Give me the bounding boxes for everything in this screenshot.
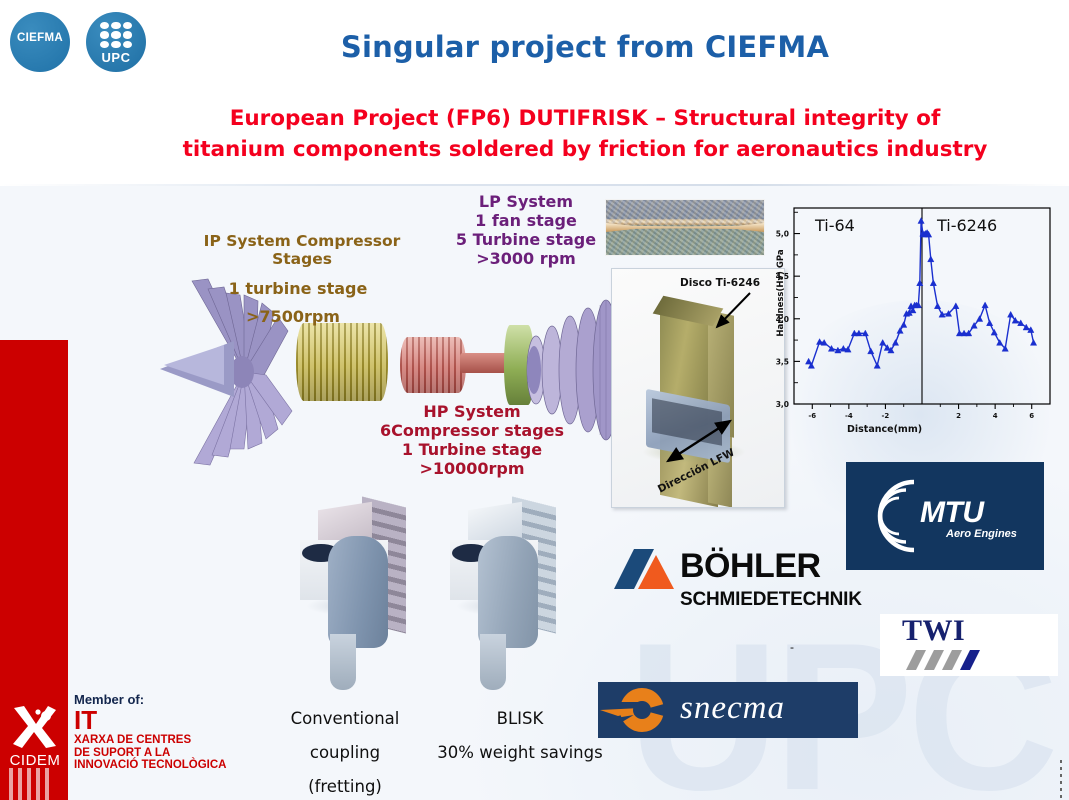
- catalonia-flag-icon: [4, 768, 50, 800]
- it-tagline: XARXA DE CENTRES DE SUPORT A LA INNOVACI…: [74, 734, 274, 773]
- subtitle-line-1: European Project (FP6) DUTIFRISK – Struc…: [140, 103, 1030, 134]
- engine-spinner-cone-inner: [164, 345, 224, 385]
- snecma-wordmark: snecma: [680, 690, 785, 727]
- lp-line-3: 5 Turbine stage: [452, 231, 600, 250]
- institution-logos: CIEFMA UPC: [4, 6, 184, 78]
- ip-turbine-stage-label: 1 turbine stage: [208, 280, 388, 299]
- chart-plot-area: 3,03,54,04,55,0-6-4-2246: [752, 196, 1064, 444]
- twi-dash-mark: -: [790, 640, 794, 654]
- blisk-caption: BLISK 30% weight savings: [420, 702, 620, 770]
- lp-line-2: 1 fan stage: [452, 212, 600, 231]
- disc-body: [478, 536, 538, 648]
- edge-dotted-marker: [1060, 760, 1062, 800]
- twi-bars-icon: [902, 648, 980, 672]
- disc-body: [328, 536, 388, 648]
- caption-line-2: 30% weight savings: [420, 736, 620, 770]
- bohler-wordmark: BÖHLER: [680, 547, 821, 586]
- upc-logo-label: UPC: [86, 50, 146, 65]
- ip-system-label: IP System Compressor Stages: [192, 232, 412, 269]
- chart-y-axis-label: Hardness(Hv) GPa: [776, 238, 786, 348]
- lp-line-4: >3000 rpm: [452, 250, 600, 269]
- hp-line-2: 6Compressor stages: [356, 422, 588, 441]
- hp-line-1: HP System: [356, 403, 588, 422]
- svg-text:6: 6: [1029, 412, 1034, 420]
- svg-text:3,5: 3,5: [776, 357, 789, 366]
- cidem-x-icon: [12, 704, 58, 748]
- hp-compressor-blades: [296, 323, 388, 401]
- member-of-label: Member of:: [74, 692, 274, 707]
- svg-text:-2: -2: [882, 412, 890, 420]
- lp-line-1: LP System: [452, 193, 600, 212]
- hp-system-label: HP System 6Compressor stages 1 Turbine s…: [356, 403, 588, 479]
- blisk-render: [450, 500, 580, 700]
- it-tagline-line-1: XARXA DE CENTRES: [74, 734, 274, 747]
- disco-label: Disco Ti-6246: [680, 277, 760, 289]
- hp-line-4: >10000rpm: [356, 460, 588, 479]
- caption-line-1: Conventional: [270, 702, 420, 736]
- conventional-coupling-render: [300, 500, 430, 700]
- caption-line-2: coupling: [270, 736, 420, 770]
- ciefma-logo-label: CIEFMA: [8, 32, 72, 44]
- upc-dots-icon: [100, 22, 132, 48]
- svg-text:3,0: 3,0: [776, 400, 789, 409]
- subtitle-line-2: titanium components soldered by friction…: [140, 134, 1030, 165]
- mtu-wordmark: MTU: [920, 496, 983, 530]
- snecma-logo: snecma: [598, 682, 858, 738]
- svg-text:4: 4: [993, 412, 998, 420]
- hp-turbine-blades: [400, 337, 466, 393]
- page-subtitle: European Project (FP6) DUTIFRISK – Struc…: [140, 103, 1030, 165]
- lp-system-label: LP System 1 fan stage 5 Turbine stage >3…: [452, 193, 600, 269]
- ip-rpm-label: >7500rpm: [218, 308, 368, 327]
- slide-canvas: UPC CIEFMA UPC Singular project from CIE…: [0, 0, 1069, 800]
- it-wordmark: IT: [74, 708, 274, 733]
- hardness-profile-chart: 3,03,54,04,55,0-6-4-2246 Ti-64 Ti-6246 D…: [752, 196, 1064, 444]
- mtu-tagline: Aero Engines: [946, 528, 1017, 540]
- svg-text:2: 2: [956, 412, 961, 420]
- page-title: Singular project from CIEFMA: [185, 30, 985, 64]
- caption-line-3: (fretting): [270, 770, 420, 800]
- twi-wordmark: TWI: [902, 614, 965, 648]
- cidem-wordmark: CIDEM: [4, 752, 66, 769]
- it-tagline-line-3: INNOVACIÓ TECNOLÒGICA: [74, 759, 274, 772]
- svg-text:-6: -6: [808, 412, 816, 420]
- chart-region-label-ti6246: Ti-6246: [937, 216, 997, 235]
- bohler-logo: BÖHLER SCHMIEDETECHNIK: [608, 545, 872, 623]
- hp-line-3: 1 Turbine stage: [356, 441, 588, 460]
- bohler-tagline: SCHMIEDETECHNIK: [680, 589, 862, 611]
- chart-region-label-ti64: Ti-64: [815, 216, 855, 235]
- chart-x-axis-label: Distance(mm): [847, 424, 922, 435]
- member-block: Member of: IT XARXA DE CENTRES DE SUPORT…: [74, 692, 274, 772]
- weld-micrograph: [605, 199, 765, 256]
- disc-foot: [480, 634, 506, 690]
- disc-foot: [330, 634, 356, 690]
- caption-line-1: BLISK: [420, 702, 620, 736]
- mtu-logo: MTU Aero Engines: [846, 462, 1044, 570]
- header-divider: [0, 184, 1069, 186]
- twi-logo: - TWI: [880, 614, 1058, 676]
- conventional-coupling-caption: Conventional coupling (fretting): [270, 702, 420, 800]
- it-tagline-line-2: DE SUPORT A LA: [74, 747, 274, 760]
- svg-text:-4: -4: [845, 412, 853, 420]
